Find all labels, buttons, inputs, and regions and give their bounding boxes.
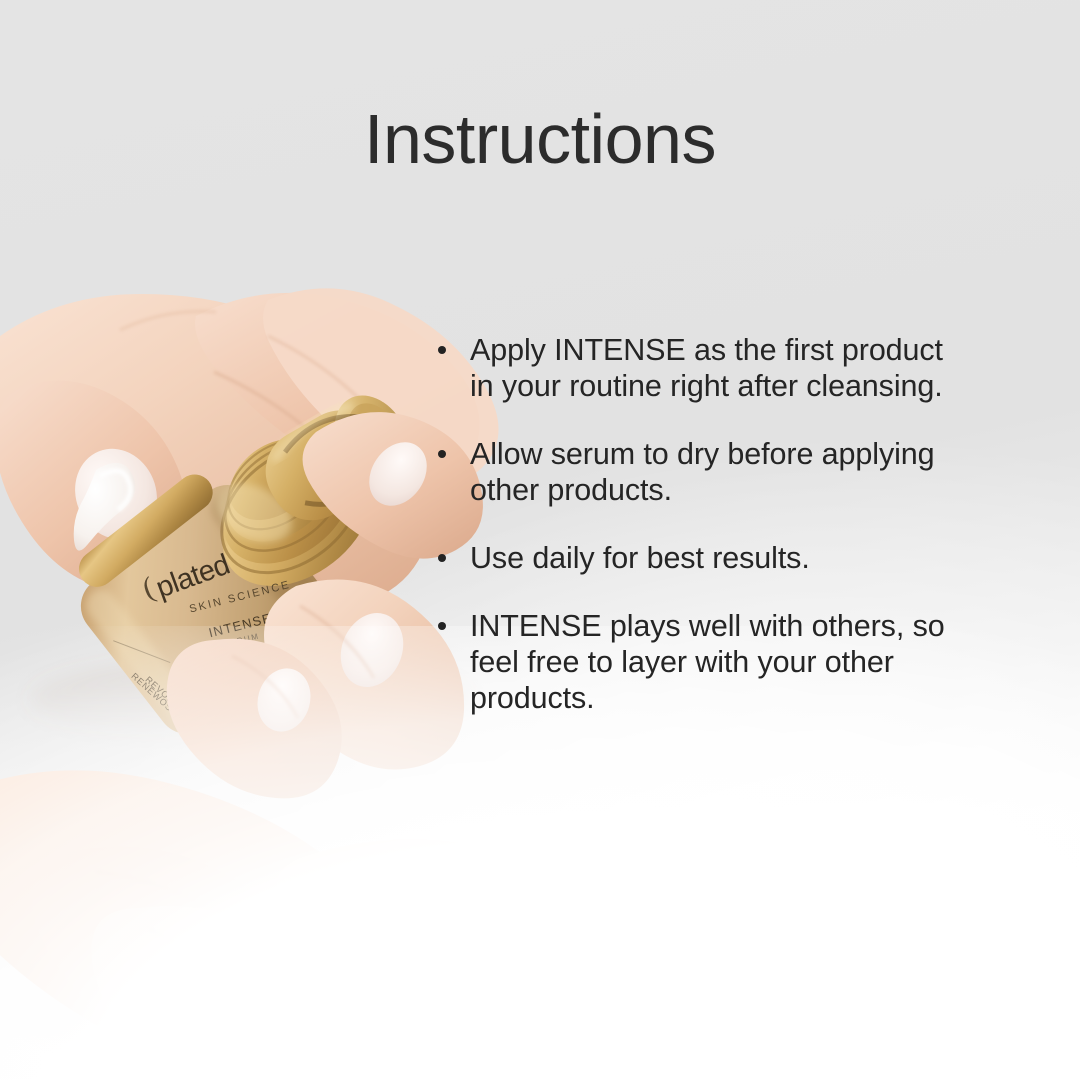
svg-text:RENEWOSOME™ TECHNOLOGY: RENEWOSOME™ TECHNOLOGY	[129, 671, 254, 785]
bullet-icon	[438, 622, 446, 630]
svg-text:SKIN SCIENCE: SKIN SCIENCE	[188, 579, 292, 616]
bullet-icon	[438, 346, 446, 354]
upper-hand	[0, 288, 499, 610]
list-item: Allow serum to dry before applying other…	[432, 436, 972, 508]
serum-droplet	[321, 472, 351, 506]
page-title: Instructions	[0, 104, 1080, 174]
list-item: Apply INTENSE as the first product in yo…	[432, 332, 972, 404]
lower-hand	[0, 770, 796, 1080]
bullet-icon	[438, 554, 446, 562]
list-item-text: Use daily for best results.	[470, 541, 810, 575]
svg-text:plated: plated	[152, 549, 234, 605]
slide-canvas: ( plated SKIN SCIENCE INTENSE SERUM REVO…	[0, 0, 1080, 1080]
list-item: INTENSE plays well with others, so feel …	[432, 608, 972, 716]
list-item-text: INTENSE plays well with others, so feel …	[470, 609, 945, 715]
list-item: Use daily for best results.	[432, 540, 972, 576]
svg-text:(: (	[138, 571, 159, 605]
svg-text:REVOLUTIONARY: REVOLUTIONARY	[143, 674, 215, 740]
list-item-text: Allow serum to dry before applying other…	[470, 437, 935, 507]
list-item-text: Apply INTENSE as the first product in yo…	[470, 333, 943, 403]
instructions-list: Apply INTENSE as the first product in yo…	[432, 332, 972, 716]
serum-bottle: ( plated SKIN SCIENCE INTENSE SERUM REVO…	[53, 382, 425, 811]
svg-text:INTENSE: INTENSE	[207, 610, 273, 640]
svg-text:SERUM: SERUM	[222, 631, 260, 649]
bullet-icon	[438, 450, 446, 458]
